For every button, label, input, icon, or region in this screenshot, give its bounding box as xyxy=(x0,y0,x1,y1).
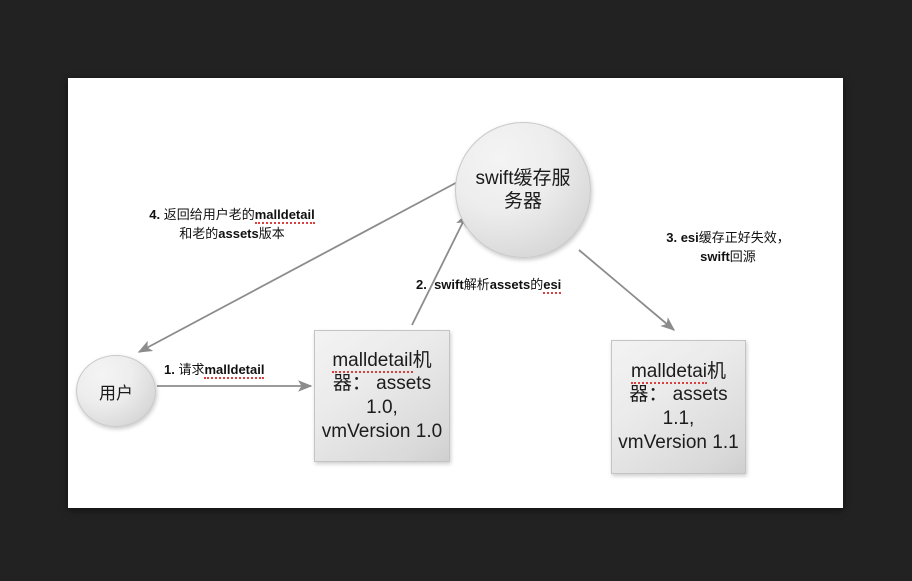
step-4-text-d: 版本 xyxy=(259,226,285,241)
step-4-text-b: 和老的 xyxy=(179,226,218,241)
swift-label-line-1: swift缓存服 xyxy=(475,168,570,189)
step-4-line-1: 4. 返回给用户老的malldetail xyxy=(117,206,347,225)
step-4-line-2: 和老的assets版本 xyxy=(117,225,347,244)
malldetail-box-new-line1-suffix: 机 xyxy=(707,361,726,382)
step-2-label: 2. swift解析assets的esi xyxy=(416,276,561,295)
swift-circle-label: swift缓存服 务器 xyxy=(469,167,577,213)
step-1-spellcheck-text: malldetail xyxy=(204,362,264,379)
step-1-number: 1. xyxy=(164,362,175,377)
malldetail-box-old-line-4: vmVersion 1.0 xyxy=(322,421,442,442)
malldetail-machine-box-old[interactable]: malldetail机 器： assets 1.0, vmVersion 1.0 xyxy=(314,330,450,462)
swift-label-line-2: 务器 xyxy=(504,191,542,212)
malldetail-box-old-line1-suffix: 机 xyxy=(413,350,432,371)
step-1-line-1: 1. 请求malldetail xyxy=(164,361,264,380)
step-3-number: 3. xyxy=(666,230,677,245)
step-2-spellcheck-text: esi xyxy=(543,277,561,294)
slide-canvas: 用户 swift缓存服 务器 malldetail机 器： assets 1.0… xyxy=(68,78,843,508)
user-circle-label: 用户 xyxy=(99,379,133,404)
step-1-label: 1. 请求malldetail xyxy=(164,361,264,380)
malldetail-spellcheck-text-new: malldetai xyxy=(631,361,707,384)
malldetail-box-new-line-1: malldetai机 xyxy=(631,361,726,384)
step-2-text-d: 的 xyxy=(530,277,543,292)
step-1-text-a: 请求 xyxy=(178,362,204,377)
step-4-text-a: 返回给用户老的 xyxy=(164,207,255,222)
step-4-spellcheck-text: malldetail xyxy=(255,207,315,224)
step-3-text-d: 回源 xyxy=(730,249,756,264)
step-3-line-1: 3. esi缓存正好失效， xyxy=(643,229,813,248)
malldetail-box-new-label: malldetai机 器： assets 1.1, vmVersion 1.1 xyxy=(617,360,741,454)
step-3-text-a: esi xyxy=(681,230,699,245)
step-3-text-c: swift xyxy=(700,249,730,264)
arrow-swift-to-user xyxy=(139,178,465,352)
malldetail-spellcheck-text: malldetail xyxy=(332,350,412,373)
malldetail-box-new-line-4: vmVersion 1.1 xyxy=(618,432,738,453)
step-2-text-b: 解析 xyxy=(464,277,490,292)
step-3-text-b: 缓存正好失效， xyxy=(699,230,790,245)
malldetail-box-old-line-1: malldetail机 xyxy=(332,350,431,373)
user-circle[interactable]: 用户 xyxy=(76,355,156,427)
screenshot-stage: 用户 swift缓存服 务器 malldetail机 器： assets 1.0… xyxy=(0,0,912,581)
malldetail-box-old-line-3: 1.0, xyxy=(366,397,398,418)
step-3-label: 3. esi缓存正好失效， swift回源 xyxy=(643,229,813,267)
arrow-malldetail-to-swift xyxy=(412,214,467,325)
step-2-text-c: assets xyxy=(490,277,530,292)
step-2-line-1: 2. swift解析assets的esi xyxy=(416,276,561,295)
malldetail-box-old-label: malldetail机 器： assets 1.0, vmVersion 1.0 xyxy=(320,349,444,443)
step-3-line-2: swift回源 xyxy=(643,248,813,267)
malldetail-box-new-line-3: 1.1, xyxy=(663,408,695,429)
malldetail-box-new-line-2: 器： assets xyxy=(629,384,727,405)
step-2-number: 2. xyxy=(416,277,427,292)
malldetail-machine-box-new[interactable]: malldetai机 器： assets 1.1, vmVersion 1.1 xyxy=(611,340,746,474)
swift-cache-server-circle[interactable]: swift缓存服 务器 xyxy=(455,122,591,258)
step-4-number: 4. xyxy=(149,207,160,222)
step-4-text-c: assets xyxy=(218,226,258,241)
step-4-label: 4. 返回给用户老的malldetail 和老的assets版本 xyxy=(117,206,347,244)
malldetail-box-old-line-2: 器： assets xyxy=(333,373,431,394)
step-2-text-a: swift xyxy=(434,277,464,292)
